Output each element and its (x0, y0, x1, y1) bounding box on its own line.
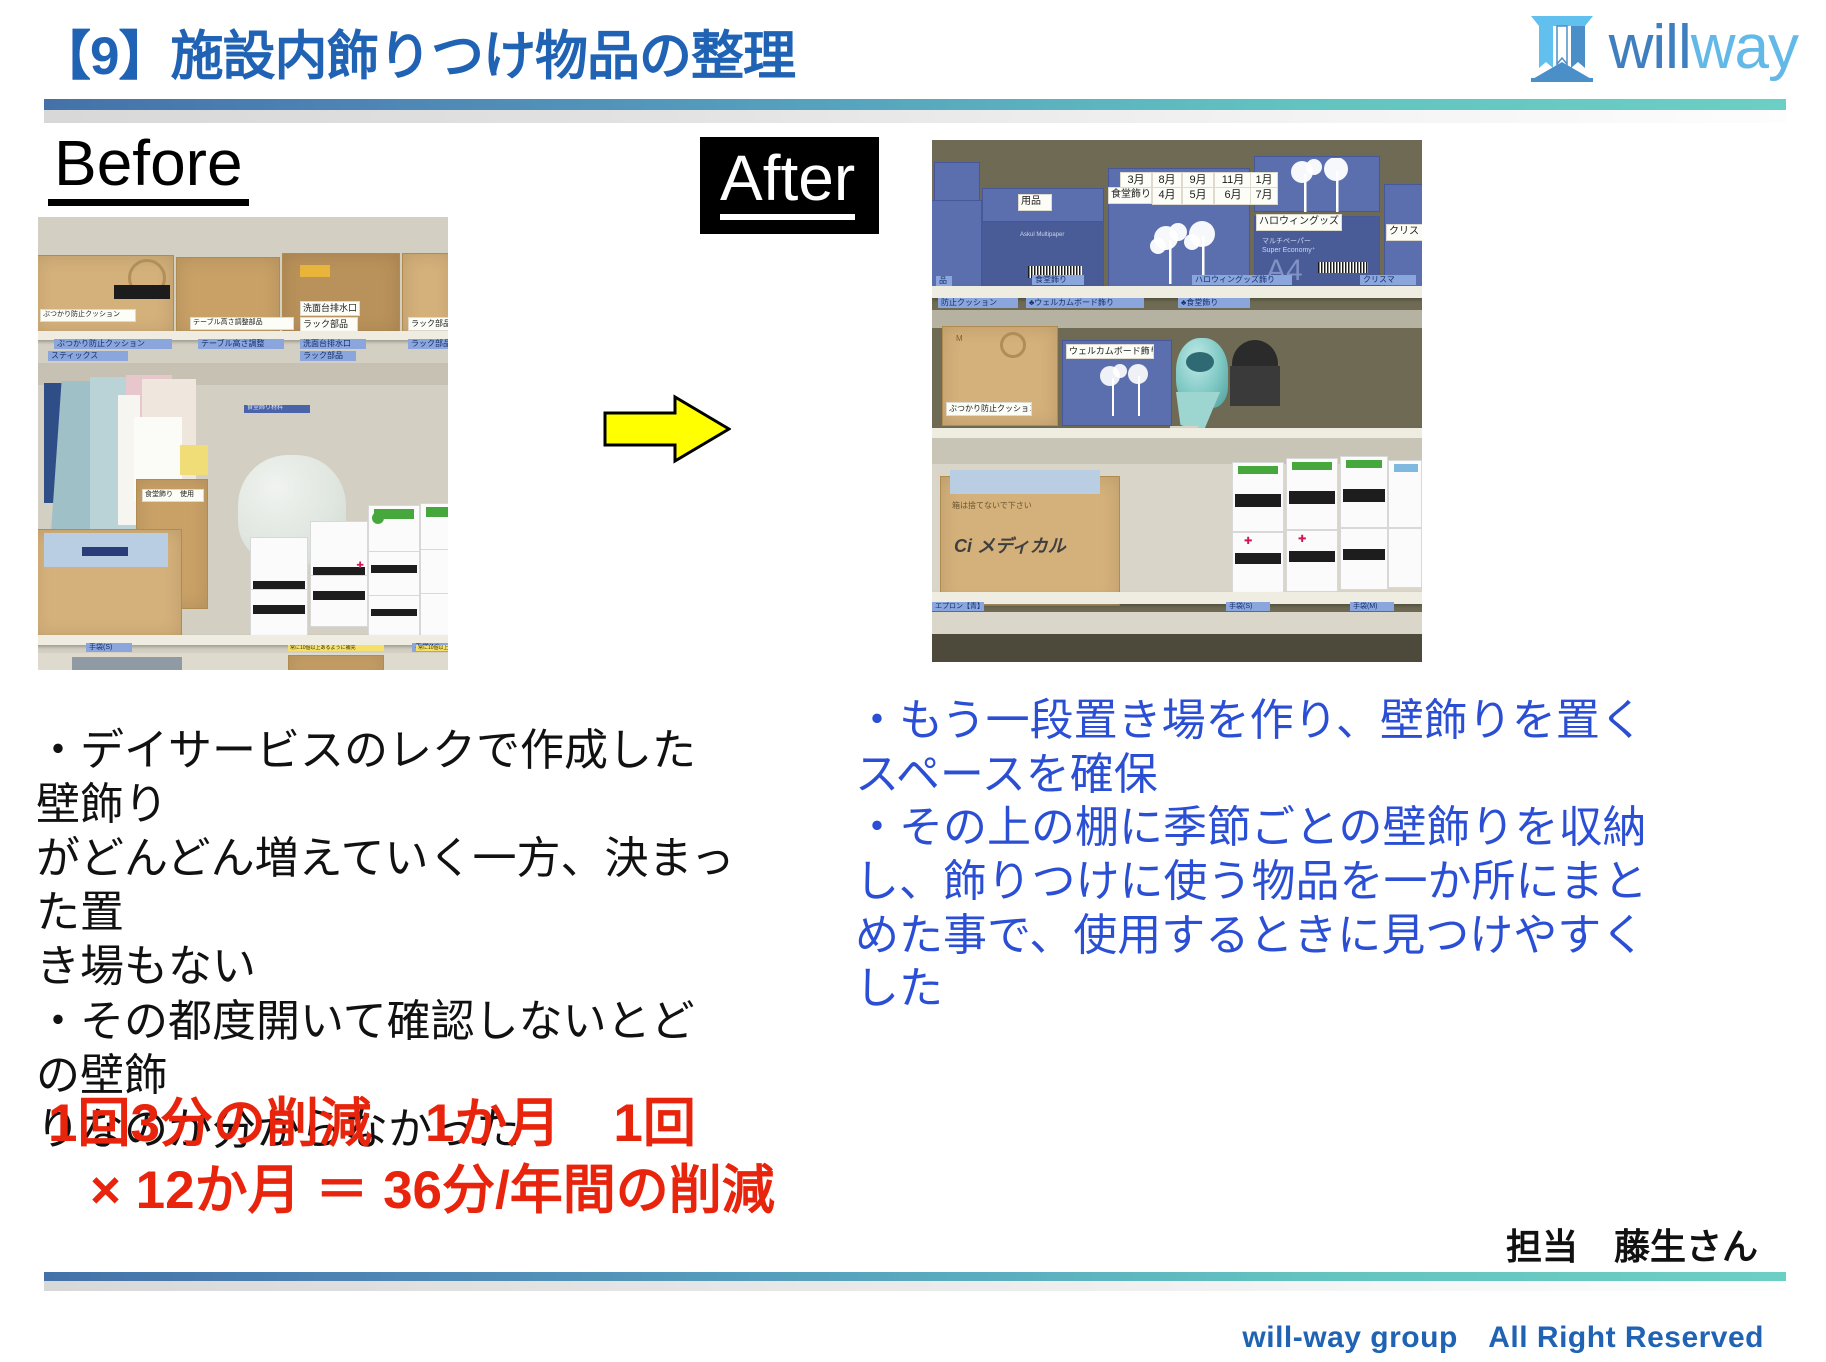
before-tag-rack-parts: ラック部品 (300, 317, 358, 332)
logo-will-text: will (1609, 13, 1691, 82)
paper-brand-text: Askul Multipaper (1020, 232, 1076, 238)
after-line-3: ・その上の棚に季節ごとの壁飾りを収納 (855, 801, 1655, 855)
after-bottom-tag-2: 手袋(S) (1226, 602, 1270, 611)
before-label: Before (48, 130, 249, 206)
willway-logo: willway (1529, 12, 1798, 84)
month-tag-5: 5月 (1182, 187, 1214, 205)
before-line-3: き場もない (36, 940, 736, 994)
footer-copyright: will-way group All Right Reserved (1242, 1312, 1764, 1356)
before-tag-sink-drain: 洗面台排水口 (300, 301, 360, 316)
after-mid-tag-welcome: ウェルカムボード飾り (1066, 344, 1154, 359)
after-bottom-tag-1: エプロン【青】 (932, 602, 984, 611)
after-label-text: After (720, 145, 855, 220)
willway-w-mark (1529, 12, 1595, 84)
before-bottom-yellow-2: 常に10個以上あるように補充 (416, 645, 448, 651)
after-line-5: めた事で、使用するときに見つけやすく (855, 909, 1655, 963)
after-description: ・もう一段置き場を作り、壁飾りを置く スペースを確保 ・その上の棚に季節ごとの壁… (855, 694, 1655, 1016)
before-tag-table-parts: テーブル高さ調整部品 (190, 317, 294, 330)
savings-line-1: 1回3分の削減 1か月 1回 (48, 1090, 868, 1157)
after-shelf1-tag-1: 食堂飾り (1032, 275, 1084, 285)
footer-divider-shadow (44, 1281, 1786, 1291)
after-line-4: し、飾りつけに使う物品を一か所にまと (855, 855, 1655, 909)
after-tag-christmas: クリス (1386, 224, 1422, 241)
savings-line-2: × 12か月 ＝ 36分/年間の削減 (48, 1157, 868, 1224)
right-arrow-icon (603, 393, 731, 465)
month-tag-6: 6月 (1214, 187, 1252, 205)
carton-handwriting: 箱は捨てないで下さい (952, 500, 1032, 511)
before-tag-rack-parts-2: ラック部品 (408, 317, 448, 331)
tree-motif-icon-2 (1280, 158, 1356, 214)
paper-brand-text-3: Super Economy⁺ (1262, 246, 1352, 253)
logo-wordmark: willway (1609, 17, 1798, 79)
before-blue-tag-6: ラック部品 (408, 339, 448, 349)
header-divider-shadow (44, 110, 1786, 123)
after-mid-tag-cushion: ぶつかり防止クッション (946, 402, 1032, 416)
paper-brand-text-2: マルチペーパー (1262, 236, 1342, 243)
before-blue-tag-4: 洗面台排水口 (300, 339, 366, 349)
after-line-1: ・もう一段置き場を作り、壁飾りを置く (855, 694, 1655, 748)
before-photo: ぶつかり防止クッション テーブル高さ調整部品 洗面台排水口 ラック部品 ラック部… (38, 217, 448, 670)
savings-summary: 1回3分の削減 1か月 1回 × 12か月 ＝ 36分/年間の削減 (48, 1090, 868, 1225)
before-line-2: がどんどん増えていく一方、決まった置 (36, 832, 736, 940)
before-blue-tag-5: ラック部品 (300, 351, 356, 361)
tree-motif-icon-3 (1092, 362, 1154, 418)
before-blue-tag-2: スティックス (48, 351, 128, 361)
before-blue-tag-1: ぶつかり防止クッション (54, 339, 172, 349)
footer-divider (44, 1272, 1786, 1281)
before-line-4: ・その都度開いて確認しないとどの壁飾 (36, 995, 736, 1103)
before-blue-tag-3: テーブル高さ調整 (198, 339, 284, 349)
owner-label: 担当 藤生さん (1506, 1218, 1758, 1270)
after-label: After (700, 137, 879, 234)
before-inner-tag-1: 食堂飾り 使用 (142, 489, 204, 502)
logo-way-text: way (1691, 13, 1798, 82)
after-line-2: スペースを確保 (855, 748, 1655, 802)
after-shelf1-tag-2: ハロウィングッズ飾り (1192, 275, 1292, 285)
after-shelf2-tag-2: ♣ウェルカムボード飾り (1026, 298, 1144, 308)
header-divider (44, 99, 1786, 110)
before-bottom-tag-1: 手袋(S) (86, 643, 132, 652)
after-shelf1-tag-3: クリスマ (1360, 275, 1416, 285)
before-tag-cushion: ぶつかり防止クッション (40, 309, 136, 322)
after-shelf2-tag-1: 防止クッション (938, 298, 1018, 308)
before-line-1: ・デイサービスのレクで作成した壁飾り (36, 724, 736, 832)
after-photo: 3月 8月 9月 11月 1月 食堂飾り 4月 5月 6月 7月 用品 ハロウィ… (932, 140, 1422, 662)
before-inner-tag-2: 食堂飾り材料 (244, 405, 310, 413)
before-bottom-yellow-1: 常に10個以上あるように補充 (288, 645, 384, 651)
after-tag-supplies: 用品 (1018, 194, 1052, 211)
carton-brand-text: Ci メディカル (954, 532, 1066, 558)
after-tag-halloween: ハロウィングッズ (1256, 214, 1342, 231)
after-bottom-tag-3: 手袋(M) (1350, 602, 1394, 611)
month-tag-4: 4月 (1152, 187, 1182, 205)
page-title: 【9】施設内飾りつけ物品の整理 (38, 14, 795, 90)
dining-decor-tag: 食堂飾り (1108, 187, 1152, 204)
after-shelf1-tag-4: 品 (936, 276, 952, 286)
after-shelf2-tag-3: ♣食堂飾り (1178, 298, 1250, 308)
month-tag-7: 7月 (1250, 187, 1278, 205)
after-line-6: した (855, 962, 1655, 1016)
